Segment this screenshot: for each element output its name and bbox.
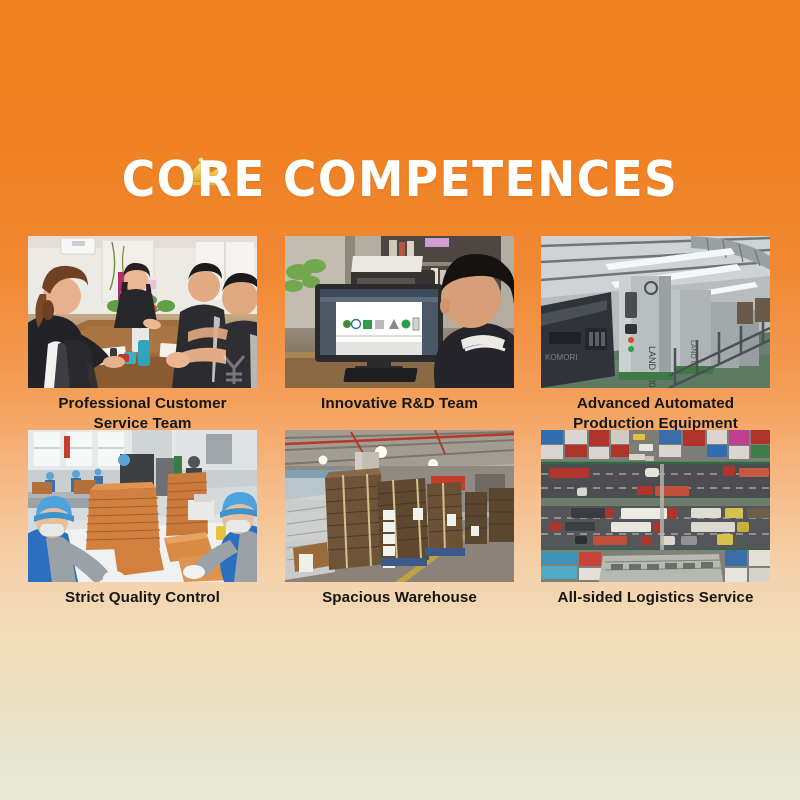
competences-grid: Professional Customer Service Team [0,236,800,624]
card-caption: Strict Quality Control [28,588,257,608]
card-strict-quality-control[interactable]: Strict Quality Control [28,430,257,608]
page-title: CORE COMPETENCES [28,150,772,210]
card-photo-qc [28,430,257,582]
card-caption: All-sided Logistics Service [541,588,770,608]
competences-row-2: Strict Quality Control [0,430,800,624]
card-advanced-automated-production-equipment[interactable]: LAND 600 LAND 600 [541,236,770,433]
card-photo-warehouse [285,430,514,582]
card-spacious-warehouse[interactable]: Spacious Warehouse [285,430,514,608]
card-caption: Professional Customer Service Team [28,394,257,433]
card-photo-press: LAND 600 LAND 600 [541,236,770,388]
card-caption: Advanced Automated Production Equipment [541,394,770,433]
title-block: CORE COMPETENCES [0,150,800,210]
core-competences-banner: CORE COMPETENCES [0,0,800,800]
card-photo-meeting [28,236,257,388]
card-photo-logistics [541,430,770,582]
card-professional-customer-service-team[interactable]: Professional Customer Service Team [28,236,257,433]
svg-text:LAND 600: LAND 600 [647,346,657,388]
competences-row-1: Professional Customer Service Team [0,236,800,430]
card-caption: Innovative R&D Team [285,394,514,414]
card-all-sided-logistics-service[interactable]: All-sided Logistics Service [541,430,770,608]
card-photo-rd [285,236,514,388]
card-caption: Spacious Warehouse [285,588,514,608]
card-innovative-rd-team[interactable]: Innovative R&D Team [285,236,514,414]
svg-text:KOMORI: KOMORI [545,353,577,362]
